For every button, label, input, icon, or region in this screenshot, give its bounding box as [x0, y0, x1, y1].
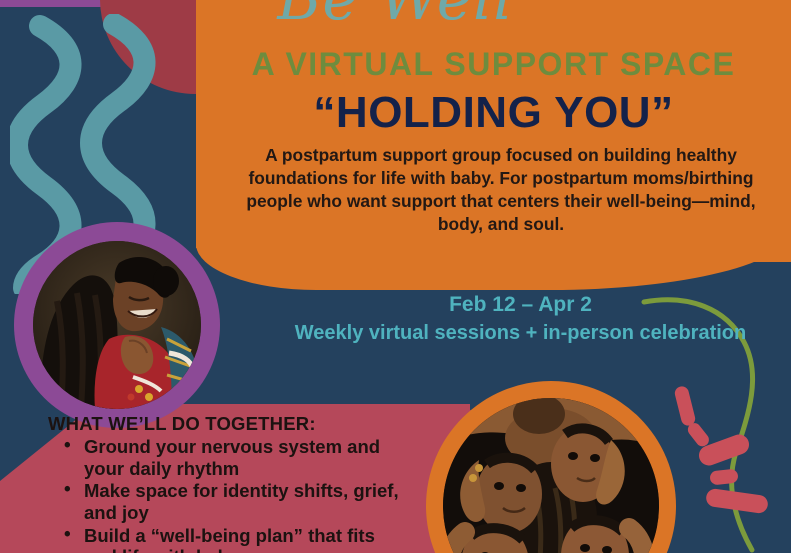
session-note: Weekly virtual sessions + in-person cele…: [250, 322, 791, 345]
page-title: “HOLDING YOU”: [196, 88, 791, 138]
activities-list: Ground your nervous system and your dail…: [58, 436, 408, 553]
activities-list-ul: Ground your nervous system and your dail…: [58, 436, 408, 553]
script-headline: Be Well: [0, 0, 791, 34]
list-item: Build a “well-being plan” that fits real…: [58, 525, 408, 553]
left-photo: [33, 241, 201, 409]
description-paragraph: A postpartum support group focused on bu…: [226, 144, 776, 237]
list-heading: WHAT WE’LL DO TOGETHER:: [48, 413, 316, 435]
list-item: Ground your nervous system and your dail…: [58, 436, 408, 479]
date-range: Feb 12 – Apr 2: [250, 293, 791, 317]
list-item: Make space for identity shifts, grief, a…: [58, 480, 408, 523]
coral-dashes-decoration-icon: [672, 384, 791, 553]
poster-canvas: Be Well A VIRTUAL SUPPORT SPACE “HOLDING…: [0, 0, 791, 553]
subtitle-green: A VIRTUAL SUPPORT SPACE: [196, 46, 791, 83]
